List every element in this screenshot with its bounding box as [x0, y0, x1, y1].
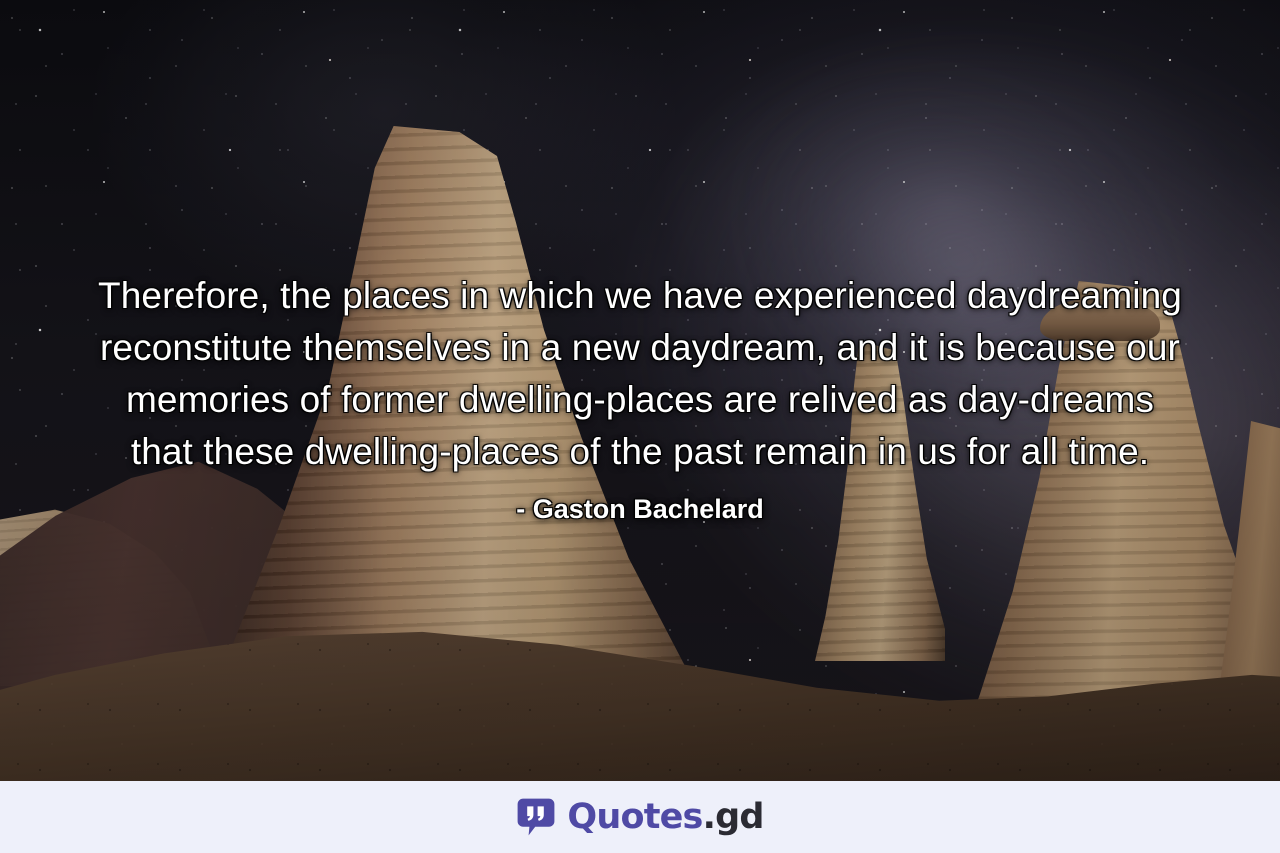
quote-author: - Gaston Bachelard	[516, 492, 764, 526]
brand-name-primary: Quotes	[567, 797, 702, 837]
brand-name-tld: .gd	[703, 797, 764, 837]
brand-name: Quotes.gd	[567, 797, 763, 837]
quote-text: Therefore, the places in which we have e…	[95, 270, 1185, 478]
quote-bubble-icon	[516, 797, 556, 837]
quote-overlay: Therefore, the places in which we have e…	[0, 0, 1280, 781]
site-footer: Quotes.gd	[0, 781, 1280, 853]
quote-card: Therefore, the places in which we have e…	[0, 0, 1280, 853]
brand-logo[interactable]: Quotes.gd	[516, 797, 763, 837]
